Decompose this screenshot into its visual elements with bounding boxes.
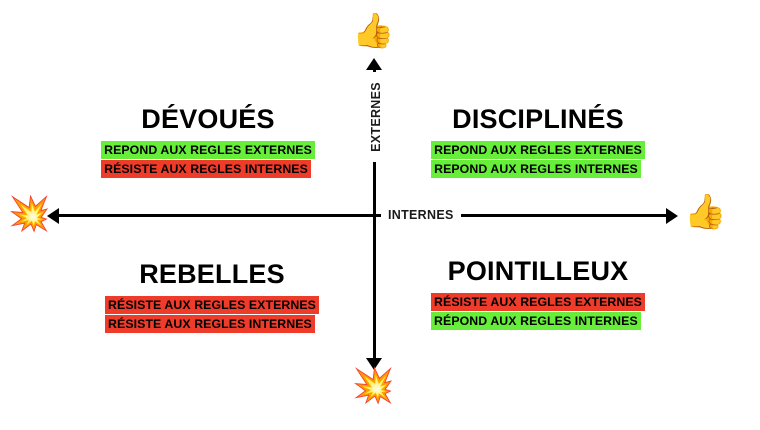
collision-icon: 💥	[352, 369, 394, 403]
quadrant-line: RÉSISTE AUX REGLES EXTERNES	[431, 293, 645, 311]
thumbs-up-icon: 👍	[352, 14, 394, 48]
quadrant-lines: REPOND AUX REGLES EXTERNES RÉSISTE AUX R…	[101, 141, 315, 178]
quadrant-line: RÉSISTE AUX REGLES EXTERNES	[105, 296, 319, 314]
quadrant-lines: REPOND AUX REGLES EXTERNES REPOND AUX RE…	[431, 141, 645, 178]
quadrant-title: POINTILLEUX	[448, 255, 629, 287]
quadrant-top-right: DISCIPLINÉS REPOND AUX REGLES EXTERNES R…	[438, 103, 638, 178]
quadrant-line: REPOND AUX REGLES EXTERNES	[431, 141, 645, 159]
quadrant-title: DISCIPLINÉS	[452, 103, 624, 135]
quadrant-line: REPOND AUX REGLES INTERNES	[431, 160, 641, 178]
quadrant-diagram: INTERNES EXTERNES 👍 👍 💥 💥 DÉVOUÉS REPOND…	[0, 0, 760, 430]
quadrant-line: RÉSISTE AUX REGLES INTERNES	[105, 315, 315, 333]
thumbs-up-icon: 👍	[684, 195, 726, 229]
quadrant-lines: RÉSISTE AUX REGLES EXTERNES RÉPOND AUX R…	[431, 293, 645, 330]
quadrant-line: REPOND AUX REGLES EXTERNES	[101, 141, 315, 159]
quadrant-bottom-right: POINTILLEUX RÉSISTE AUX REGLES EXTERNES …	[438, 255, 638, 330]
quadrant-top-left: DÉVOUÉS REPOND AUX REGLES EXTERNES RÉSIS…	[108, 103, 308, 178]
arrow-up-icon	[366, 58, 382, 70]
quadrant-bottom-left: REBELLES RÉSISTE AUX REGLES EXTERNES RÉS…	[116, 258, 308, 333]
horizontal-axis-label: INTERNES	[381, 206, 461, 224]
vertical-axis-label: EXTERNES	[367, 72, 385, 162]
quadrant-line: RÉPOND AUX REGLES INTERNES	[431, 312, 641, 330]
quadrant-title: REBELLES	[139, 258, 285, 290]
arrow-right-icon	[666, 208, 678, 224]
collision-icon: 💥	[8, 197, 50, 231]
quadrant-lines: RÉSISTE AUX REGLES EXTERNES RÉSISTE AUX …	[105, 296, 319, 333]
horizontal-axis-line	[55, 214, 675, 217]
quadrant-line: RÉSISTE AUX REGLES INTERNES	[101, 160, 311, 178]
quadrant-title: DÉVOUÉS	[141, 103, 274, 135]
